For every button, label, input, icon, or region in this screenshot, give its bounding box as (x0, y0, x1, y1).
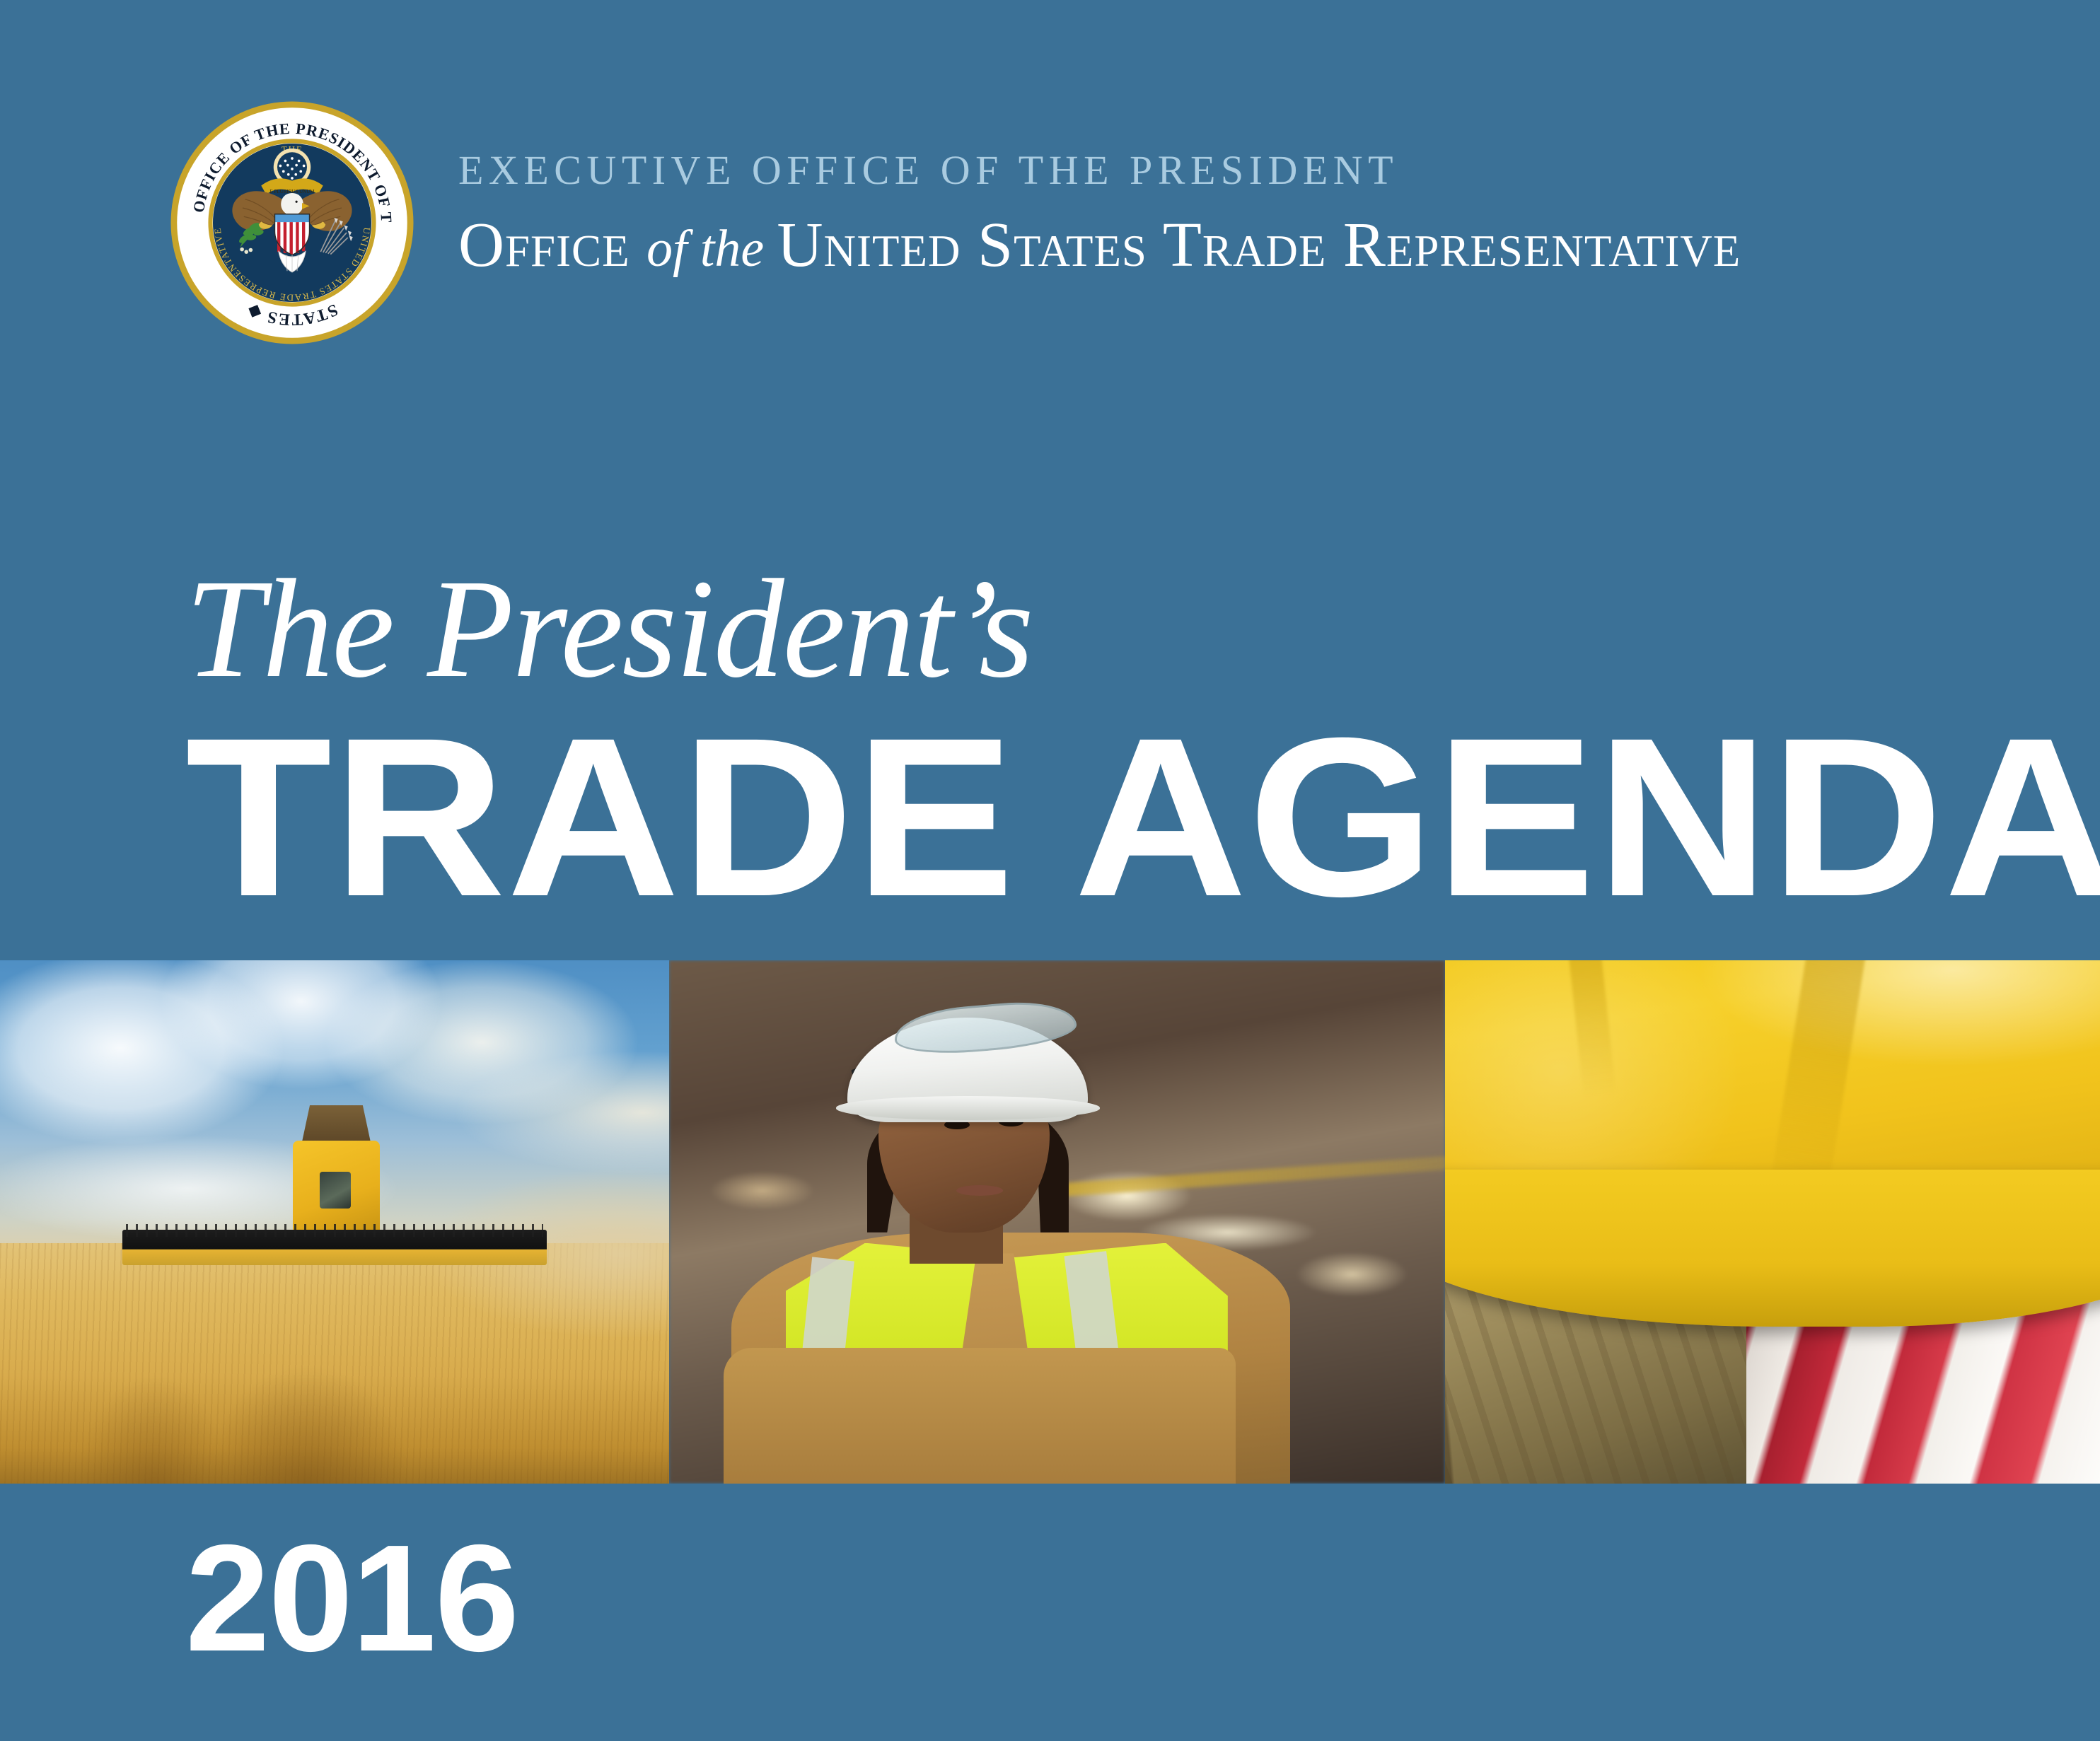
photo-female-factory-worker (669, 960, 1445, 1484)
masthead-text: Executive Office of the President Office… (458, 150, 1731, 277)
trade-agenda-cover: EXECUTIVE OFFICE OF THE PRESIDENT OF THE… (0, 0, 2100, 1741)
photo-hard-hat-gloves-flag (1445, 960, 2100, 1484)
lips (956, 1185, 1003, 1196)
ustr-line-part1: Office (458, 210, 646, 280)
year-label: 2016 (185, 1522, 518, 1674)
executive-office-line: Executive Office of the President (458, 150, 1731, 191)
hard-hat-brim (836, 1096, 1100, 1119)
title-script-line: The President’s (185, 559, 2024, 700)
crossed-arms (724, 1348, 1236, 1484)
yellow-hard-hat-brim (1445, 1170, 2100, 1327)
photo-band (0, 960, 2100, 1484)
ustr-seal: EXECUTIVE OFFICE OF THE PRESIDENT OF THE… (168, 99, 416, 347)
masthead: EXECUTIVE OFFICE OF THE PRESIDENT OF THE… (0, 0, 2100, 467)
cab-window (320, 1172, 351, 1209)
ustr-line-italic: of the (646, 219, 777, 277)
title-block: The President’s TRADE AGENDA (185, 559, 2024, 921)
reel-tines (126, 1224, 543, 1237)
ustr-line: Office of the United States Trade Repres… (458, 214, 1731, 277)
ustr-line-part2: United States Trade Representative (777, 210, 1741, 280)
page-title: TRADE AGENDA (185, 713, 2100, 921)
grain-hopper (301, 1105, 371, 1144)
combine-harvester (248, 1102, 422, 1280)
photo-combine-harvester-wheat-field (0, 960, 669, 1484)
